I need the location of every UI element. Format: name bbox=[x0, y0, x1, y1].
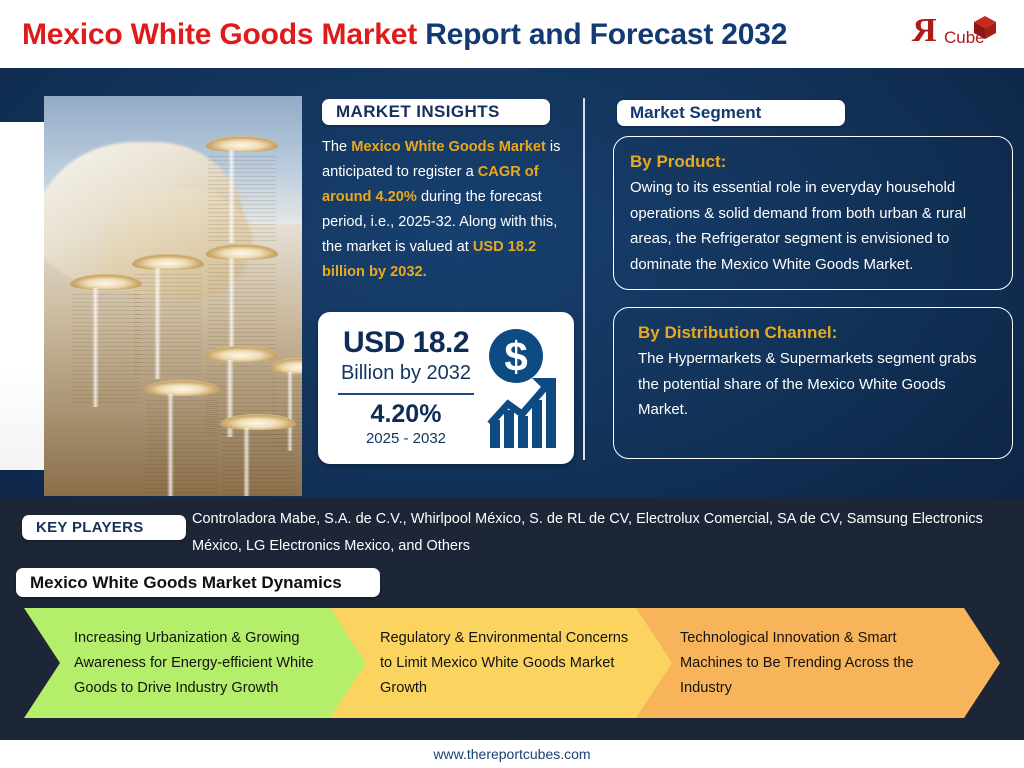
forecast-period: 2025 - 2032 bbox=[332, 429, 480, 449]
dynamics-arrow-trend: Technological Innovation & Smart Machine… bbox=[636, 608, 1000, 718]
market-value-subtitle: Billion by 2032 bbox=[332, 360, 480, 386]
dynamics-arrow-driver: Increasing Urbanization & Growing Awaren… bbox=[24, 608, 368, 718]
key-players-badge: KEY PLAYERS bbox=[22, 515, 186, 540]
infographic-canvas: Mexico White Goods Market Report and For… bbox=[0, 0, 1024, 768]
page-title-primary: Mexico White Goods Market bbox=[22, 18, 417, 51]
page-footer: www.thereportcubes.com bbox=[0, 740, 1024, 768]
market-insights-badge: MARKET INSIGHTS bbox=[322, 99, 550, 125]
vertical-divider bbox=[583, 98, 585, 460]
dynamics-arrow-driver-text: Increasing Urbanization & Growing Awaren… bbox=[24, 626, 368, 701]
photo-can bbox=[220, 414, 296, 496]
photo-can bbox=[206, 136, 278, 246]
dynamics-arrow-restraint-text: Regulatory & Environmental Concerns to L… bbox=[330, 626, 674, 701]
market-value-card: USD 18.2 Billion by 2032 4.20% 2025 - 20… bbox=[318, 312, 574, 464]
segment-title-by-product: By Product: bbox=[630, 149, 997, 175]
dollar-circle-icon: $ bbox=[486, 328, 564, 452]
photo-can bbox=[206, 244, 278, 354]
left-white-panel bbox=[0, 122, 44, 470]
cagr-value: 4.20% bbox=[332, 399, 480, 429]
page-title-secondary: Report and Forecast 2032 bbox=[417, 18, 787, 51]
stat-text-group: USD 18.2 Billion by 2032 4.20% 2025 - 20… bbox=[332, 326, 480, 449]
market-insights-text: The Mexico White Goods Market is anticip… bbox=[322, 135, 576, 285]
segment-body-by-product: Owing to its essential role in everyday … bbox=[630, 175, 997, 277]
segment-card-by-product: By Product: Owing to its essential role … bbox=[613, 136, 1013, 290]
insights-part-1: The bbox=[322, 139, 351, 155]
photo-can bbox=[70, 274, 142, 410]
logo-mirrored-r: R bbox=[912, 14, 937, 48]
page-title: Mexico White Goods Market Report and For… bbox=[22, 18, 787, 52]
market-dynamics-badge: Mexico White Goods Market Dynamics bbox=[16, 568, 380, 597]
segment-body-by-distribution-channel: The Hypermarkets & Supermarkets segment … bbox=[630, 346, 997, 423]
cube-icon bbox=[970, 12, 1000, 42]
insights-highlight-1: Mexico White Goods Market bbox=[351, 139, 546, 155]
rcube-logo[interactable]: R Cube bbox=[910, 12, 1002, 58]
stat-divider bbox=[338, 393, 474, 395]
hero-photo bbox=[44, 96, 302, 496]
market-value: USD 18.2 bbox=[332, 326, 480, 360]
segment-title-by-distribution-channel: By Distribution Channel: bbox=[630, 320, 997, 346]
photo-can bbox=[144, 380, 220, 496]
dynamics-arrow-trend-text: Technological Innovation & Smart Machine… bbox=[636, 626, 1000, 701]
dynamics-arrow-restraint: Regulatory & Environmental Concerns to L… bbox=[330, 608, 674, 718]
growth-bar-chart-icon bbox=[490, 390, 556, 448]
page-header: Mexico White Goods Market Report and For… bbox=[0, 0, 1024, 68]
market-segment-badge: Market Segment bbox=[617, 100, 845, 126]
svg-text:$: $ bbox=[504, 333, 527, 380]
market-dynamics-arrows: Increasing Urbanization & Growing Awaren… bbox=[0, 608, 1024, 718]
segment-card-by-distribution-channel: By Distribution Channel: The Hypermarket… bbox=[613, 307, 1013, 459]
photo-can bbox=[132, 254, 204, 382]
footer-website-link[interactable]: www.thereportcubes.com bbox=[433, 746, 590, 762]
key-players-list: Controladora Mabe, S.A. de C.V., Whirlpo… bbox=[192, 506, 992, 560]
